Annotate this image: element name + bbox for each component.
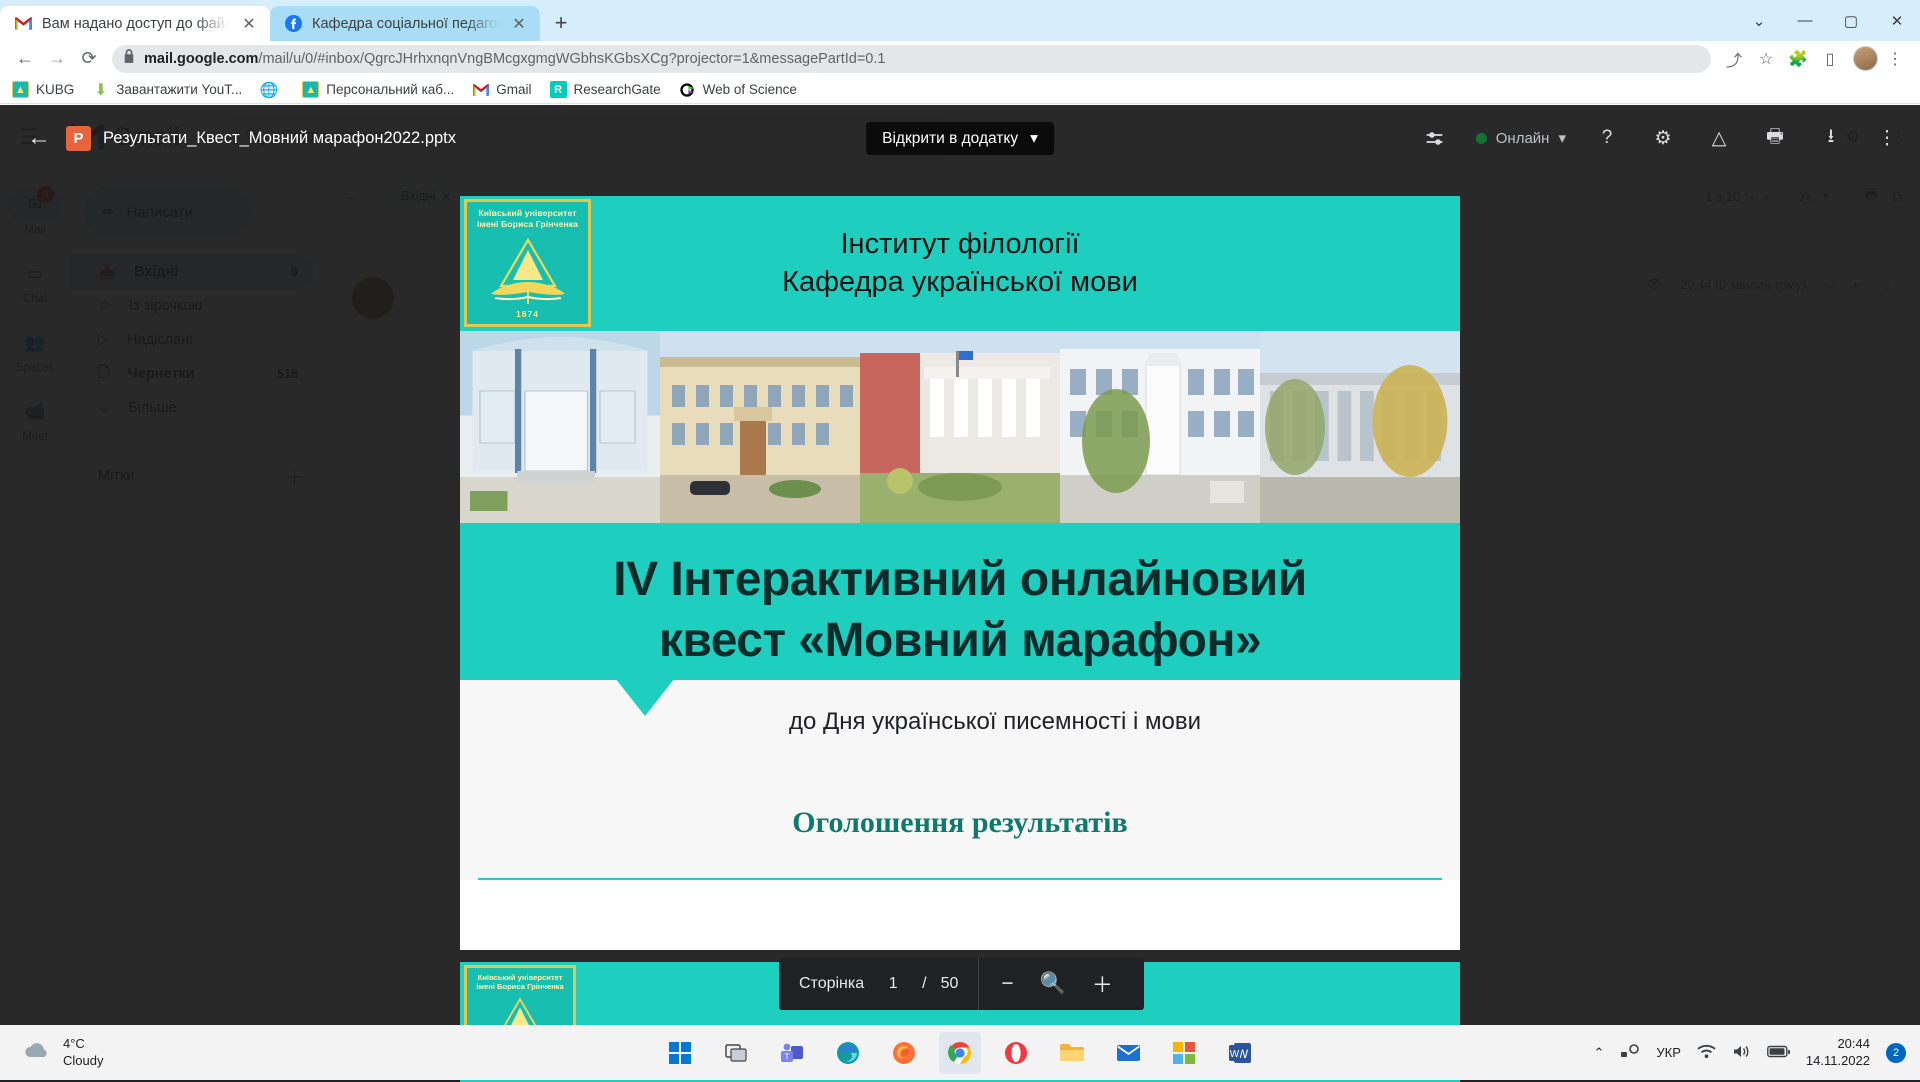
logo-year: 1874 bbox=[516, 309, 539, 319]
presence-status[interactable]: Онлайн ▾ bbox=[1476, 129, 1566, 147]
open-in-app-button[interactable]: Відкрити в додатку ▾ bbox=[866, 122, 1054, 155]
bookmark-personal-cabinet[interactable]: ▲ Персональний каб... bbox=[302, 81, 454, 98]
campus-photo-2 bbox=[660, 331, 860, 523]
start-button[interactable] bbox=[659, 1032, 701, 1074]
mail-icon[interactable] bbox=[1107, 1032, 1149, 1074]
tab-title: Кафедра соціальної педагогіки bbox=[312, 16, 499, 32]
bookmarks-bar: ▲ KUBG ⬇ Завантажити YouT... 🌐 ▲ Персона… bbox=[0, 76, 1920, 104]
wifi-icon[interactable] bbox=[1697, 1044, 1716, 1062]
profile-avatar[interactable] bbox=[1853, 46, 1878, 71]
globe-icon: 🌐 bbox=[260, 81, 277, 98]
settings-icon[interactable]: ⚙ bbox=[1648, 123, 1678, 153]
weather-desc: Cloudy bbox=[63, 1053, 103, 1069]
chevron-up-icon[interactable]: ⌃ bbox=[1593, 1045, 1604, 1061]
back-icon[interactable]: ← bbox=[10, 44, 40, 74]
open-in-app-label: Відкрити в додатку bbox=[882, 130, 1018, 148]
logo-emblem-icon bbox=[485, 236, 571, 310]
windows-taskbar: 4°C Cloudy T bbox=[0, 1025, 1920, 1080]
address-bar[interactable]: mail.google.com/mail/u/0/#inbox/QgrcJHrh… bbox=[112, 45, 1711, 73]
projector-toolbar: ← P Результати_Квест_Мовний марафон2022.… bbox=[0, 105, 1920, 171]
powerpoint-icon: P bbox=[66, 126, 91, 151]
chrome-icon[interactable] bbox=[939, 1032, 981, 1074]
magnifier-icon[interactable]: 🔍 bbox=[1040, 972, 1066, 996]
add-to-drive-icon[interactable]: △ bbox=[1704, 123, 1734, 153]
tab-strip: Вам надано доступ до файлу Ре ✕ Кафедра … bbox=[0, 0, 1920, 41]
presence-label: Онлайн bbox=[1496, 130, 1550, 147]
browser-window: Вам надано доступ до файлу Ре ✕ Кафедра … bbox=[0, 0, 1920, 1080]
arrow-back-icon[interactable]: ← bbox=[18, 117, 60, 159]
page-label: Сторінка bbox=[799, 975, 864, 993]
svg-text:W: W bbox=[1230, 1049, 1240, 1060]
notification-badge[interactable]: 2 bbox=[1886, 1043, 1906, 1063]
folder-icon[interactable] bbox=[1051, 1032, 1093, 1074]
download-icon[interactable]: ⭳ bbox=[1816, 123, 1846, 153]
slide-header: Київський університет імені Бориса Грінч… bbox=[460, 196, 1460, 331]
page-indicator: Сторінка 1 / 50 bbox=[779, 958, 979, 1010]
task-view-icon[interactable] bbox=[715, 1032, 757, 1074]
bookmark-label: KUBG bbox=[36, 82, 74, 97]
url-text: mail.google.com/mail/u/0/#inbox/QgrcJHrh… bbox=[144, 51, 885, 67]
gmail-icon bbox=[14, 14, 33, 33]
close-window-button[interactable]: ✕ bbox=[1874, 0, 1920, 41]
slide-title-line-1: IV Інтерактивний онлайновий bbox=[460, 549, 1460, 610]
minimize-button[interactable]: — bbox=[1782, 0, 1828, 41]
logo-line-1: Київський університет bbox=[478, 208, 576, 219]
clock[interactable]: 20:44 14.11.2022 bbox=[1806, 1036, 1870, 1070]
edge-icon[interactable] bbox=[827, 1032, 869, 1074]
slide-divider bbox=[478, 878, 1442, 880]
tab-title: Вам надано доступ до файлу Ре bbox=[42, 16, 229, 32]
word-icon[interactable]: WW bbox=[1219, 1032, 1261, 1074]
chrome-menu-caret-icon[interactable]: ⌄ bbox=[1736, 0, 1782, 41]
slide-body: до Дня української писемності і мови Ого… bbox=[460, 680, 1460, 880]
logo-line-2: імені Бориса Грінченка bbox=[477, 219, 578, 230]
slide-title-band: IV Інтерактивний онлайновий квест «Мовни… bbox=[460, 523, 1460, 680]
weather-temp: 4°C bbox=[63, 1036, 103, 1052]
weather-widget[interactable]: 4°C Cloudy bbox=[22, 1036, 103, 1069]
facebook-icon bbox=[284, 14, 303, 33]
weather-text: 4°C Cloudy bbox=[63, 1036, 103, 1069]
zoom-out-icon[interactable]: − bbox=[1001, 972, 1013, 996]
star-icon[interactable]: ☆ bbox=[1751, 44, 1781, 74]
store-icon[interactable] bbox=[1163, 1032, 1205, 1074]
campus-photo-strip bbox=[460, 331, 1460, 523]
chevron-down-icon: ▾ bbox=[1030, 129, 1038, 148]
slide-department: Кафедра української мови bbox=[782, 266, 1138, 299]
page-separator: / bbox=[922, 975, 926, 993]
side-panel-icon[interactable]: ▯ bbox=[1815, 44, 1845, 74]
bookmark-label: ResearchGate bbox=[574, 82, 661, 97]
chevron-down-icon: ▾ bbox=[1558, 129, 1566, 147]
bookmark-kubg[interactable]: ▲ KUBG bbox=[12, 81, 74, 98]
firefox-icon[interactable] bbox=[883, 1032, 925, 1074]
webofscience-icon bbox=[679, 81, 696, 98]
close-icon[interactable]: ✕ bbox=[238, 13, 260, 35]
clock-date: 14.11.2022 bbox=[1806, 1053, 1870, 1070]
bookmark-youtube-downloader[interactable]: ⬇ Завантажити YouT... bbox=[92, 81, 242, 98]
extensions-icon[interactable]: 🧩 bbox=[1783, 44, 1813, 74]
bookmark-label: Завантажити YouT... bbox=[116, 82, 242, 97]
svg-text:T: T bbox=[785, 1052, 790, 1061]
title-band-notch bbox=[615, 678, 675, 716]
maximize-button[interactable]: ▢ bbox=[1828, 0, 1874, 41]
language-indicator[interactable]: УКР bbox=[1656, 1045, 1681, 1060]
bookmark-researchgate[interactable]: R ResearchGate bbox=[550, 81, 661, 98]
projector-actions: Онлайн ▾ ? ⚙ △ 🖶 ⭳ ⋮ bbox=[1420, 123, 1902, 153]
projector-file-meta: P Результати_Квест_Мовний марафон2022.pp… bbox=[66, 126, 456, 151]
tab-facebook[interactable]: Кафедра соціальної педагогіки ✕ bbox=[270, 6, 540, 41]
taskbar-apps: T WW bbox=[659, 1032, 1261, 1074]
slide-results-heading: Оголошення результатів bbox=[460, 806, 1460, 840]
bookmark-globe[interactable]: 🌐 bbox=[260, 81, 284, 98]
zoom-in-icon[interactable]: ＋ bbox=[1092, 969, 1113, 999]
print-icon[interactable]: 🖶 bbox=[1760, 123, 1790, 153]
kubg-icon: ▲ bbox=[302, 81, 319, 98]
forward-icon[interactable]: → bbox=[42, 44, 72, 74]
bookmark-label: Web of Science bbox=[703, 82, 797, 97]
kubg-icon: ▲ bbox=[12, 81, 29, 98]
bookmark-label: Gmail bbox=[496, 82, 531, 97]
share-icon[interactable]: ⤴ bbox=[1719, 44, 1749, 74]
researchgate-icon: R bbox=[550, 81, 567, 98]
opera-icon[interactable] bbox=[995, 1032, 1037, 1074]
bookmark-gmail[interactable]: Gmail bbox=[472, 81, 531, 98]
battery-icon[interactable] bbox=[1767, 1045, 1790, 1061]
browser-toolbar: ← → ⟳ mail.google.com/mail/u/0/#inbox/Qg… bbox=[0, 41, 1920, 76]
page-navigation-bar: Сторінка 1 / 50 − 🔍 ＋ bbox=[779, 958, 1144, 1010]
logo-line-2: імені Бориса Грінченка bbox=[476, 982, 563, 991]
slide-subtitle: до Дня української писемності і мови bbox=[460, 708, 1460, 736]
campus-photo-1 bbox=[460, 331, 660, 523]
zoom-controls: − 🔍 ＋ bbox=[979, 969, 1134, 999]
campus-photo-4 bbox=[1060, 331, 1260, 523]
slide-page-1[interactable]: Київський університет імені Бориса Грінч… bbox=[460, 196, 1460, 950]
page-total: 50 bbox=[941, 975, 959, 993]
window-controls: ⌄ — ▢ ✕ bbox=[1736, 0, 1920, 41]
logo-line-1: Київський університет bbox=[478, 973, 563, 982]
slide-institute: Інститут філології bbox=[841, 228, 1080, 261]
new-tab-button[interactable]: + bbox=[544, 6, 578, 40]
page-number-input[interactable]: 1 bbox=[878, 975, 908, 993]
reload-icon[interactable]: ⟳ bbox=[74, 44, 104, 74]
file-name: Результати_Квест_Мовний марафон2022.pptx bbox=[103, 129, 456, 148]
clock-time: 20:44 bbox=[1806, 1036, 1870, 1053]
close-icon[interactable]: ✕ bbox=[508, 13, 530, 35]
gmail-icon bbox=[472, 81, 489, 98]
tab-gmail[interactable]: Вам надано доступ до файлу Ре ✕ bbox=[0, 6, 270, 41]
cloud-icon bbox=[22, 1039, 52, 1066]
help-icon[interactable]: ? bbox=[1592, 123, 1622, 153]
download-icon: ⬇ bbox=[92, 81, 109, 98]
status-dot bbox=[1476, 133, 1487, 144]
tune-icon[interactable] bbox=[1420, 123, 1450, 153]
system-tray: ⌃ УКР 20:44 14.11.2022 2 bbox=[1593, 1036, 1920, 1070]
lock-icon bbox=[123, 49, 135, 68]
campus-photo-5 bbox=[1260, 331, 1460, 523]
teams-icon[interactable]: T bbox=[771, 1032, 813, 1074]
toolbar-right-icons: ⤴ ☆ 🧩 ▯ ⋮ bbox=[1719, 44, 1910, 74]
slide-title-line-2: квест «Мовний марафон» bbox=[460, 610, 1460, 671]
university-logo: Київський університет імені Бориса Грінч… bbox=[464, 199, 591, 327]
bookmark-label: Персональний каб... bbox=[326, 82, 454, 97]
volume-icon[interactable] bbox=[1732, 1044, 1751, 1062]
network-status-icon[interactable] bbox=[1620, 1043, 1640, 1062]
bookmark-web-of-science[interactable]: Web of Science bbox=[679, 81, 797, 98]
more-vert-icon[interactable]: ⋮ bbox=[1872, 123, 1902, 153]
chrome-menu-icon[interactable]: ⋮ bbox=[1880, 44, 1910, 74]
campus-photo-3 bbox=[860, 331, 1060, 523]
